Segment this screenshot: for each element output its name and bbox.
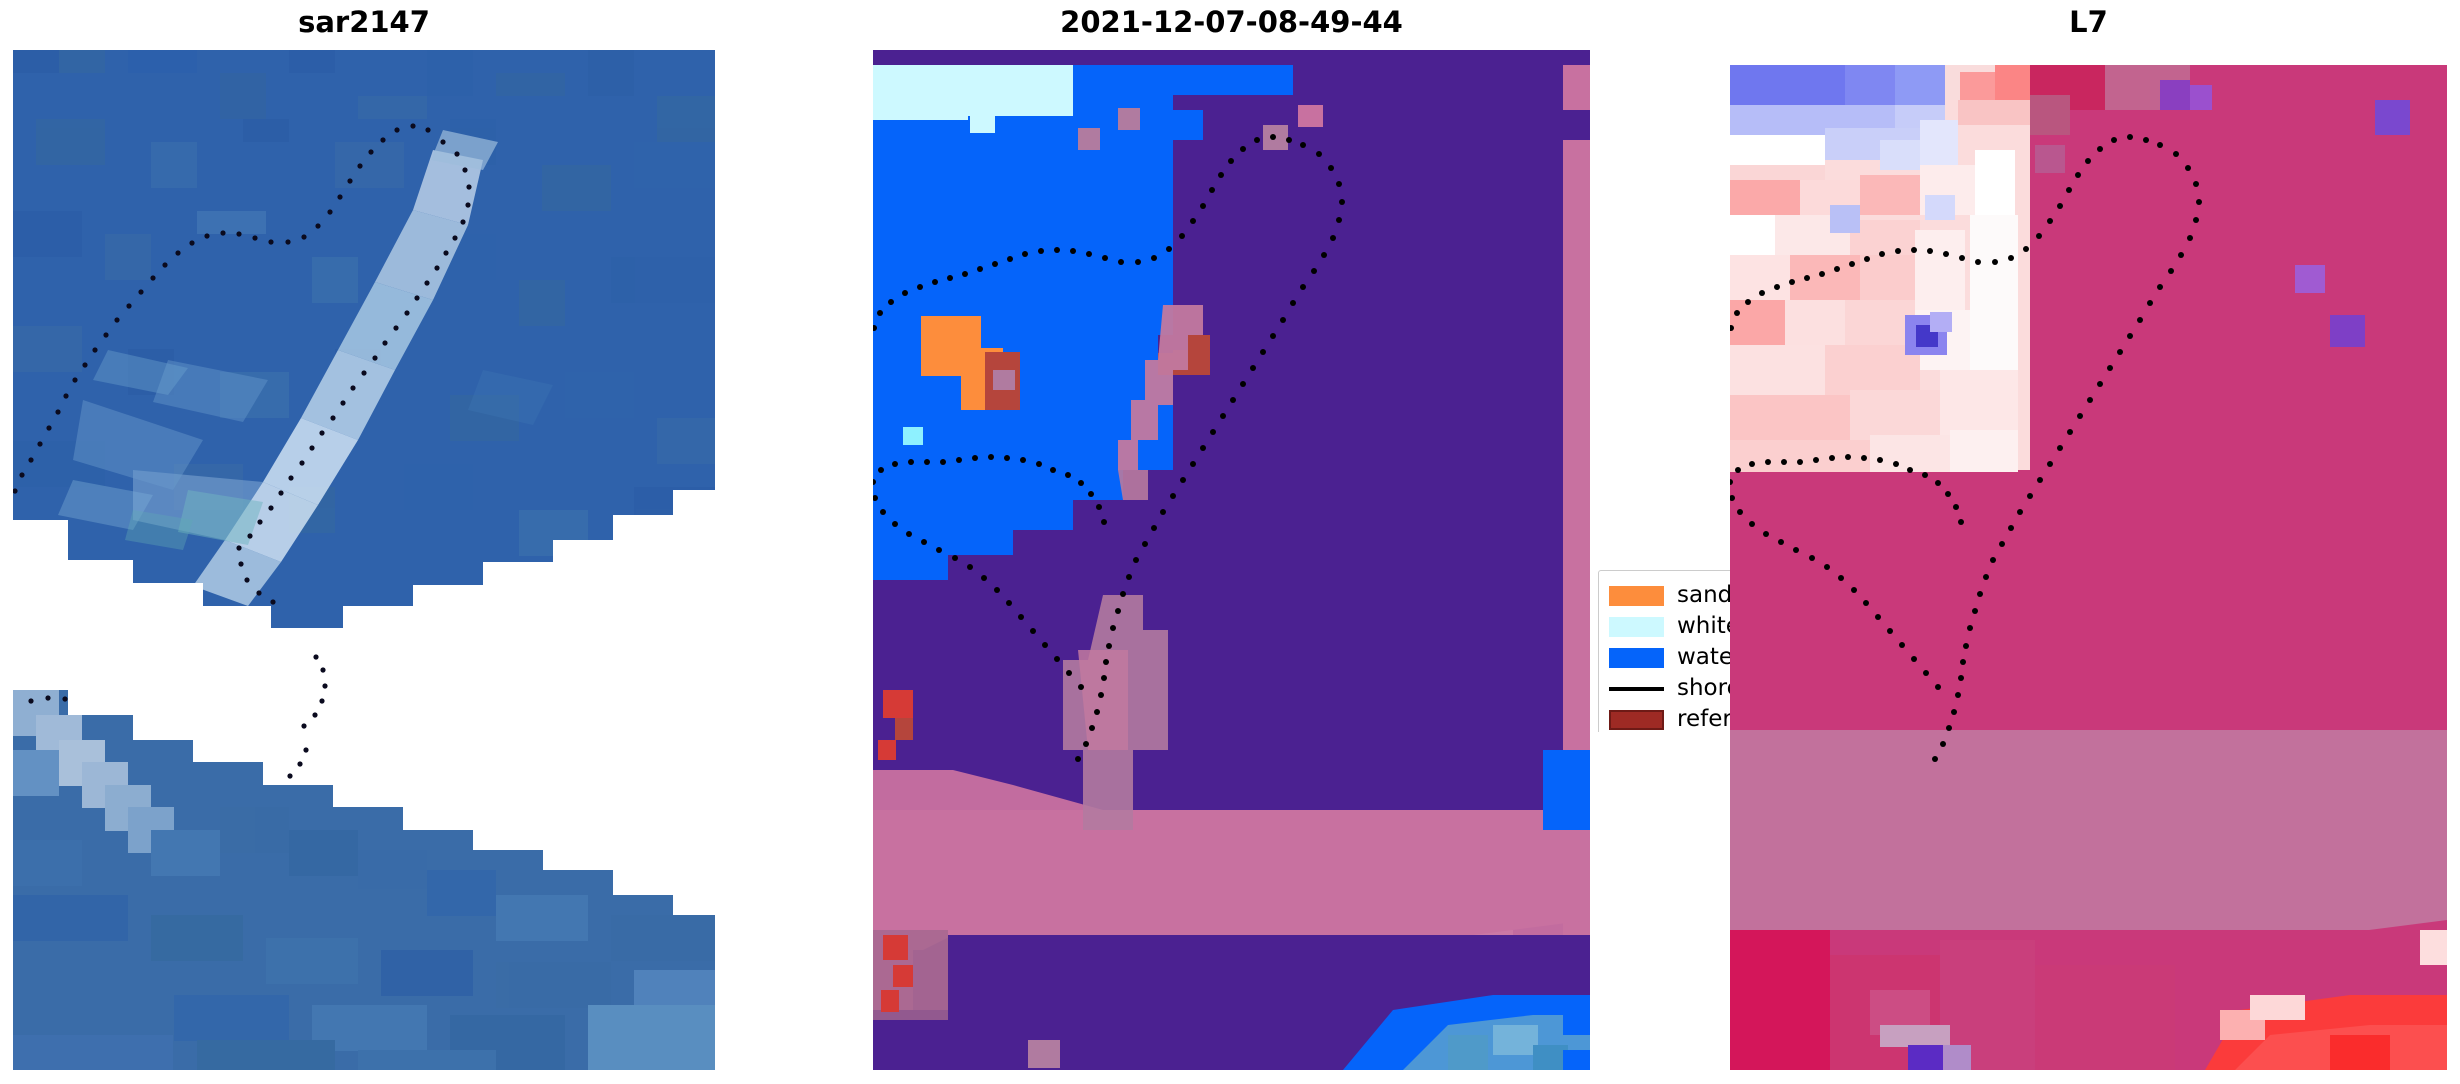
- legend-label-shoreline: shoreline: [1677, 677, 1730, 700]
- sar-raster-image: [13, 50, 715, 1070]
- legend-label-water: water: [1677, 646, 1730, 669]
- shoreline-line-icon: [1609, 687, 1664, 691]
- legend-item-reference-shoreline[interactable]: reference shoreline: [1609, 704, 1730, 732]
- class-legend-clip: sand whitewater water shoreline referenc…: [1598, 570, 1730, 732]
- classification-raster-image: [873, 50, 1590, 1070]
- legend-label-sand: sand: [1677, 584, 1730, 607]
- reference-shoreline-swatch-icon: [1609, 710, 1664, 730]
- panel-title-l7: L7: [1730, 8, 2447, 37]
- legend-item-water[interactable]: water: [1609, 642, 1730, 673]
- l7-raster-image: [1730, 50, 2447, 1070]
- panel-l7: [1730, 50, 2447, 1070]
- legend-item-whitewater[interactable]: whitewater: [1609, 611, 1730, 642]
- panel-title-sar2147: sar2147: [13, 8, 715, 37]
- panel-sar2147: [13, 50, 715, 1070]
- class-legend[interactable]: sand whitewater water shoreline referenc…: [1598, 570, 1730, 732]
- legend-item-shoreline[interactable]: shoreline: [1609, 673, 1730, 704]
- whitewater-swatch-icon: [1609, 617, 1664, 637]
- sand-swatch-icon: [1609, 586, 1664, 606]
- legend-label-reference-shoreline: reference shoreline: [1677, 708, 1730, 731]
- panel-title-classification: 2021-12-07-08-49-44: [873, 8, 1590, 37]
- legend-item-sand[interactable]: sand: [1609, 580, 1730, 611]
- panel-classification: [873, 50, 1590, 1070]
- figure-canvas: sar2147: [0, 0, 2460, 1084]
- water-swatch-icon: [1609, 648, 1664, 668]
- legend-label-whitewater: whitewater: [1677, 615, 1730, 638]
